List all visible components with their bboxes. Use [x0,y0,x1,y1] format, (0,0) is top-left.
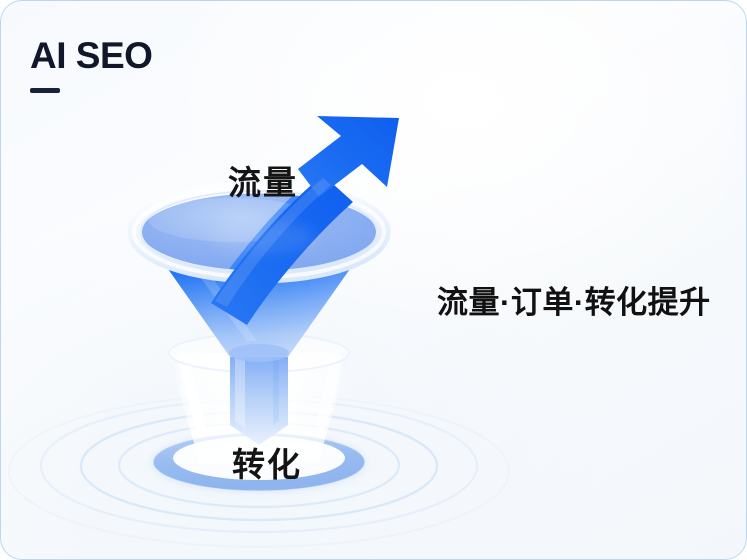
funnel-illustration [1,1,747,560]
arrow-glow [211,221,315,253]
poster-canvas: AI SEO 流量·订单·转化提升 [0,0,747,560]
label-traffic: 流量 [228,156,298,204]
label-conversion: 转化 [232,438,302,486]
